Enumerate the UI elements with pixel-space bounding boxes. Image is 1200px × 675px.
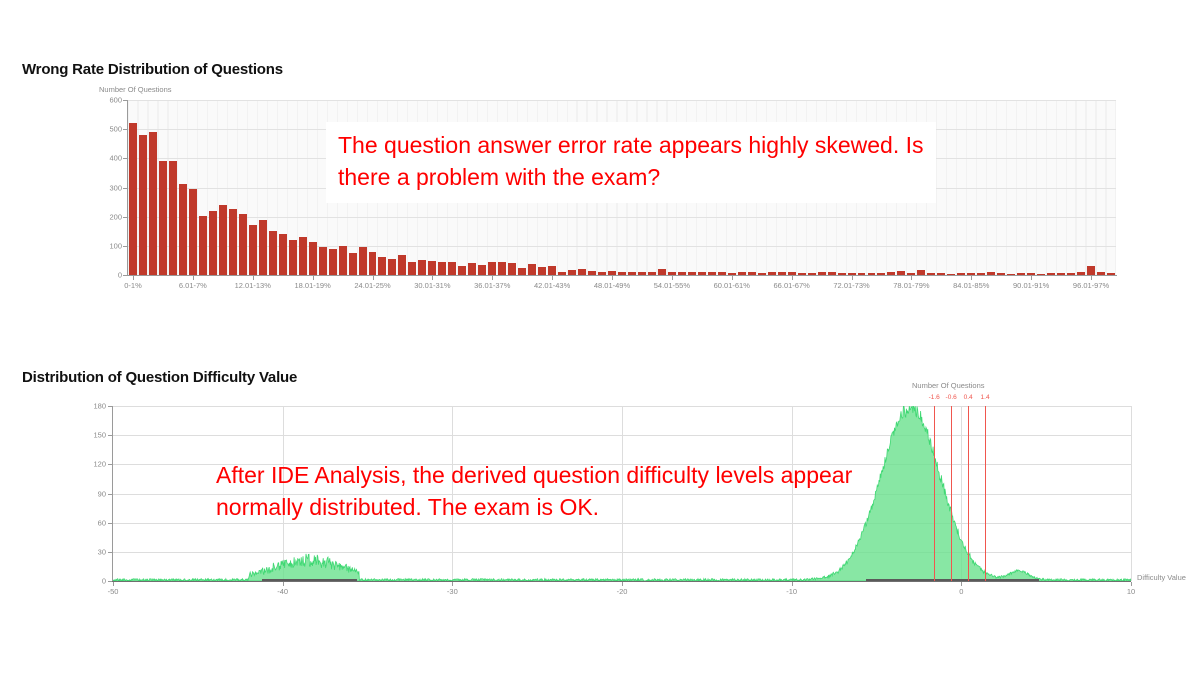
chart1-bar xyxy=(408,262,416,275)
chart2-y-tick-mark xyxy=(108,464,112,465)
chart1-x-tick-mark xyxy=(313,276,314,280)
chart2-x-tick-mark xyxy=(113,582,114,586)
chart1-bar xyxy=(139,135,147,275)
chart1-y-tick-label: 0 xyxy=(96,271,122,280)
chart1-x-tick-mark xyxy=(971,276,972,280)
chart2-x-tick-mark xyxy=(792,582,793,586)
chart1-bar xyxy=(269,231,277,275)
chart2-x-tick-label: -10 xyxy=(786,587,797,596)
chart2-marker-line xyxy=(951,406,952,581)
chart2-x-axis-title: Difficulty Value xyxy=(1137,573,1186,582)
chart1-x-tick-mark xyxy=(852,276,853,280)
chart1-x-axis-line xyxy=(127,275,1117,276)
chart1-x-tick-mark xyxy=(253,276,254,280)
chart1-x-tick-mark xyxy=(612,276,613,280)
chart2-marker-label: 1.4 xyxy=(981,394,990,401)
chart1-bar xyxy=(488,262,496,275)
chart1-x-tick-mark xyxy=(911,276,912,280)
chart2-vertical-gridline xyxy=(1131,406,1132,581)
chart1-x-tick-mark xyxy=(432,276,433,280)
chart1-x-tick-label: 78.01-79% xyxy=(893,281,929,290)
chart1-y-tick-mark xyxy=(123,275,127,276)
chart1-x-tick-label: 84.01-85% xyxy=(953,281,989,290)
chart2-marker-label: 0.4 xyxy=(964,394,973,401)
chart1-bar xyxy=(428,261,436,275)
chart2-x-tick-label: 0 xyxy=(959,587,963,596)
chart1-x-tick-label: 30.01-31% xyxy=(414,281,450,290)
chart1-bar xyxy=(478,265,486,276)
chart1-y-tick-mark xyxy=(123,158,127,159)
chart1-y-axis-title: Number Of Questions xyxy=(99,85,172,94)
chart1-bar xyxy=(319,247,327,275)
chart2-marker-label: -0.6 xyxy=(946,394,957,401)
chart2-y-tick-mark xyxy=(108,494,112,495)
chart1-x-tick-label: 90.01-91% xyxy=(1013,281,1049,290)
chart2-marker-line xyxy=(934,406,935,581)
chart1-bar xyxy=(548,266,556,275)
chart1-x-tick-label: 42.01-43% xyxy=(534,281,570,290)
chart2-y-tick-mark xyxy=(108,435,112,436)
chart1-bar xyxy=(309,242,317,275)
chart2-legend-label: Number Of Questions xyxy=(912,381,985,390)
chart2-x-tick-label: -30 xyxy=(447,587,458,596)
chart2-x-tick-label: 10 xyxy=(1127,587,1135,596)
chart1-bar xyxy=(1087,266,1095,275)
chart2-x-tick-label: -50 xyxy=(108,587,119,596)
chart1-bar xyxy=(369,252,377,275)
chart2-y-tick-label: 60 xyxy=(80,518,106,527)
chart2-y-tick-label: 30 xyxy=(80,547,106,556)
chart1-x-tick-label: 72.01-73% xyxy=(833,281,869,290)
chart1-x-tick-label: 6.01-7% xyxy=(179,281,207,290)
chart1-y-axis-line xyxy=(127,100,128,276)
chart1-x-tick-label: 36.01-37% xyxy=(474,281,510,290)
chart1-x-tick-mark xyxy=(193,276,194,280)
chart2-y-tick-label: 180 xyxy=(80,402,106,411)
chart1-bar xyxy=(398,255,406,275)
chart1-bar xyxy=(129,123,137,275)
chart1-bar xyxy=(239,214,247,275)
chart1-y-tick-label: 300 xyxy=(96,183,122,192)
chart2-x-tick-label: -20 xyxy=(617,587,628,596)
chart1-bar xyxy=(448,262,456,275)
chart1-bar xyxy=(159,161,167,275)
chart1-x-tick-label: 60.01-61% xyxy=(714,281,750,290)
chart2-x-tick-mark xyxy=(1131,582,1132,586)
chart1-x-tick-mark xyxy=(1031,276,1032,280)
chart1-bar xyxy=(259,220,267,275)
chart2-x-tick-label: -40 xyxy=(277,587,288,596)
chart1-x-tick-label: 18.01-19% xyxy=(294,281,330,290)
chart1-bar xyxy=(179,184,187,275)
chart1-bar xyxy=(209,211,217,275)
chart1-bar xyxy=(359,247,367,275)
chart1-bar xyxy=(219,205,227,275)
chart1-y-tick-label: 100 xyxy=(96,241,122,250)
chart2-marker-line xyxy=(968,406,969,581)
chart1-bar xyxy=(189,189,197,275)
chart2-marker-line xyxy=(985,406,986,581)
chart2-x-tick-mark xyxy=(283,582,284,586)
chart2-y-tick-label: 0 xyxy=(80,577,106,586)
chart1-x-tick-mark xyxy=(672,276,673,280)
chart1-x-tick-mark xyxy=(1091,276,1092,280)
chart1-bar xyxy=(299,237,307,275)
chart1-x-tick-mark xyxy=(732,276,733,280)
chart1-bar xyxy=(388,259,396,275)
chart1-x-tick-mark xyxy=(133,276,134,280)
chart1-bar xyxy=(418,260,426,275)
chart1-bar xyxy=(378,257,386,275)
chart2-x-tick-mark xyxy=(622,582,623,586)
chart1-bar xyxy=(289,240,297,275)
chart1-x-tick-label: 0-1% xyxy=(124,281,142,290)
chart1-y-tick-mark xyxy=(123,129,127,130)
chart2-y-tick-label: 120 xyxy=(80,460,106,469)
chart1-bar xyxy=(199,216,207,275)
chart1-x-tick-label: 48.01-49% xyxy=(594,281,630,290)
chart1-bar xyxy=(458,266,466,275)
chart1-bar xyxy=(438,262,446,275)
chart1-bar xyxy=(169,161,177,275)
chart1-x-tick-mark xyxy=(792,276,793,280)
chart1-y-tick-mark xyxy=(123,100,127,101)
chart1-bar xyxy=(518,268,526,275)
chart1-bar xyxy=(249,225,257,275)
chart1-bar xyxy=(538,267,546,275)
chart1-bar xyxy=(339,246,347,275)
chart1-x-tick-label: 66.01-67% xyxy=(774,281,810,290)
chart2-y-axis-line xyxy=(112,406,113,582)
chart2-y-tick-label: 150 xyxy=(80,431,106,440)
chart1-bar xyxy=(329,249,337,275)
chart1-y-tick-mark xyxy=(123,217,127,218)
chart1-x-tick-label: 12.01-13% xyxy=(235,281,271,290)
section1-title: Wrong Rate Distribution of Questions xyxy=(22,61,283,78)
chart1-x-tick-mark xyxy=(373,276,374,280)
chart1-y-tick-label: 200 xyxy=(96,212,122,221)
chart2-y-tick-mark xyxy=(108,406,112,407)
chart1-bar xyxy=(468,263,476,275)
chart1-x-tick-mark xyxy=(492,276,493,280)
chart1-bar xyxy=(349,253,357,275)
section2-title: Distribution of Question Difficulty Valu… xyxy=(22,369,297,386)
chart1-y-tick-mark xyxy=(123,246,127,247)
chart1-x-tick-label: 96.01-97% xyxy=(1073,281,1109,290)
section2-callout-text: After IDE Analysis, the derived question… xyxy=(204,452,880,533)
chart1-bar xyxy=(508,263,516,275)
chart1-bar xyxy=(279,234,287,275)
chart2-x-tick-mark xyxy=(961,582,962,586)
chart1-bar xyxy=(149,132,157,275)
chart1-bar xyxy=(229,209,237,275)
chart2-y-tick-mark xyxy=(108,523,112,524)
chart2-y-tick-label: 90 xyxy=(80,489,106,498)
slide-canvas: Wrong Rate Distribution of Questions Num… xyxy=(0,0,1200,675)
chart2-y-tick-mark xyxy=(108,552,112,553)
chart2-marker-label: -1.6 xyxy=(929,394,940,401)
chart1-x-tick-mark xyxy=(552,276,553,280)
section1-callout-text: The question answer error rate appears h… xyxy=(326,122,936,203)
chart2-y-tick-mark xyxy=(108,581,112,582)
chart1-y-tick-label: 400 xyxy=(96,154,122,163)
chart1-y-tick-mark xyxy=(123,188,127,189)
chart2-x-tick-mark xyxy=(452,582,453,586)
chart1-x-tick-label: 24.01-25% xyxy=(354,281,390,290)
chart1-x-tick-label: 54.01-55% xyxy=(654,281,690,290)
chart1-y-tick-label: 500 xyxy=(96,125,122,134)
chart1-bar xyxy=(498,262,506,275)
chart1-bar xyxy=(528,264,536,275)
chart1-y-tick-label: 600 xyxy=(96,96,122,105)
